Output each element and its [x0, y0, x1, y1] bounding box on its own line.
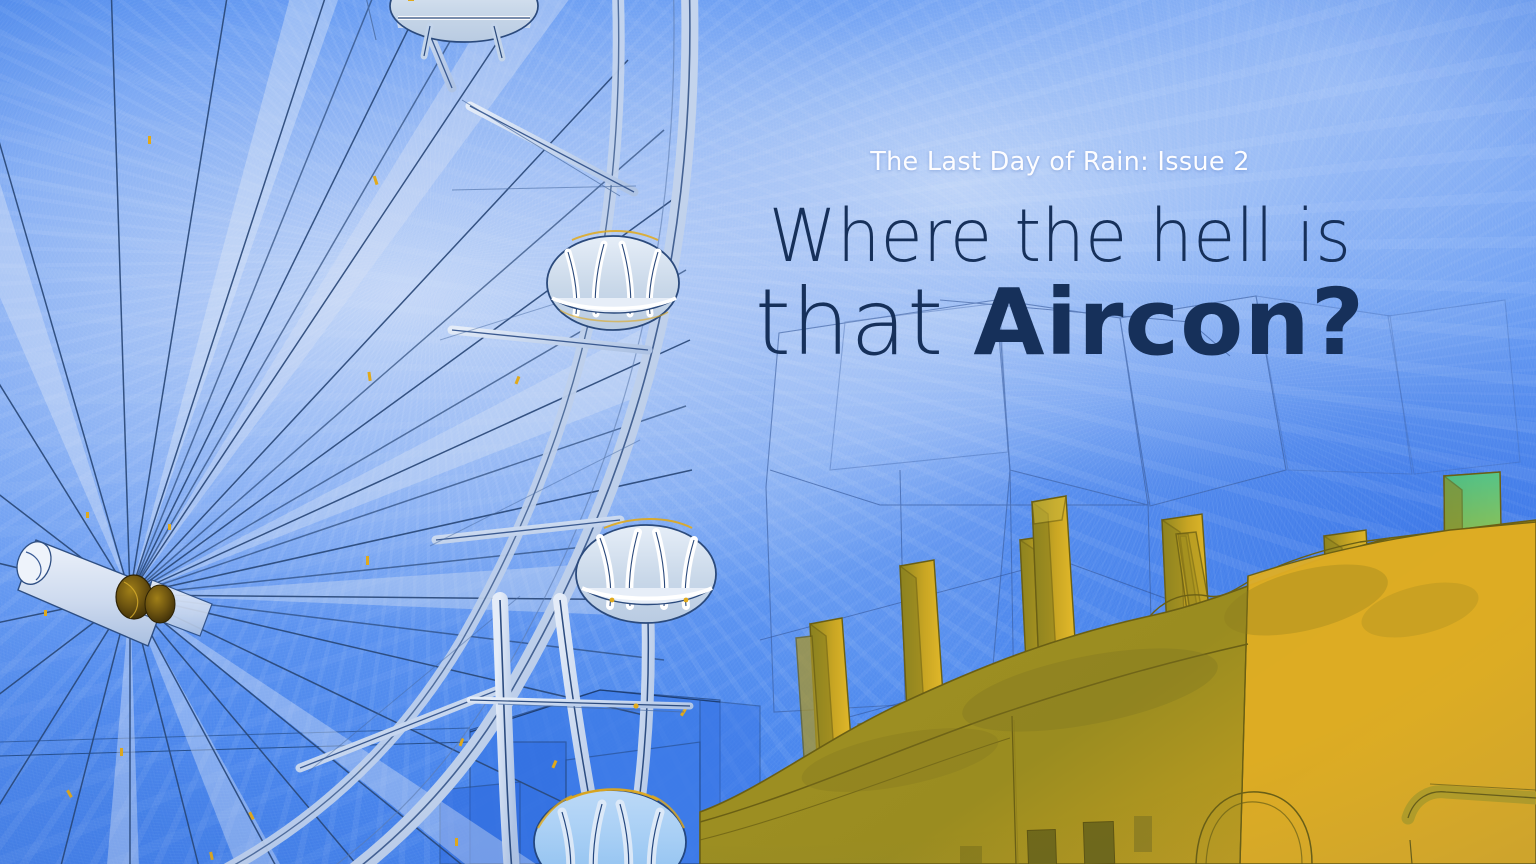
poster-canvas: The Last Day of Rain: Issue 2 Where the … — [0, 0, 1536, 864]
page-title: Where the hell is that Aircon? — [620, 202, 1500, 368]
yellow-building — [0, 0, 1536, 864]
headline-line-1: Where the hell is — [646, 202, 1473, 273]
issue-eyebrow: The Last Day of Rain: Issue 2 — [620, 150, 1500, 176]
headline-line-2: that Aircon? — [620, 278, 1500, 367]
headline-line-2-bold: Aircon? — [973, 269, 1365, 376]
title-block: The Last Day of Rain: Issue 2 Where the … — [620, 150, 1500, 368]
headline-line-2-light: that — [755, 269, 974, 376]
